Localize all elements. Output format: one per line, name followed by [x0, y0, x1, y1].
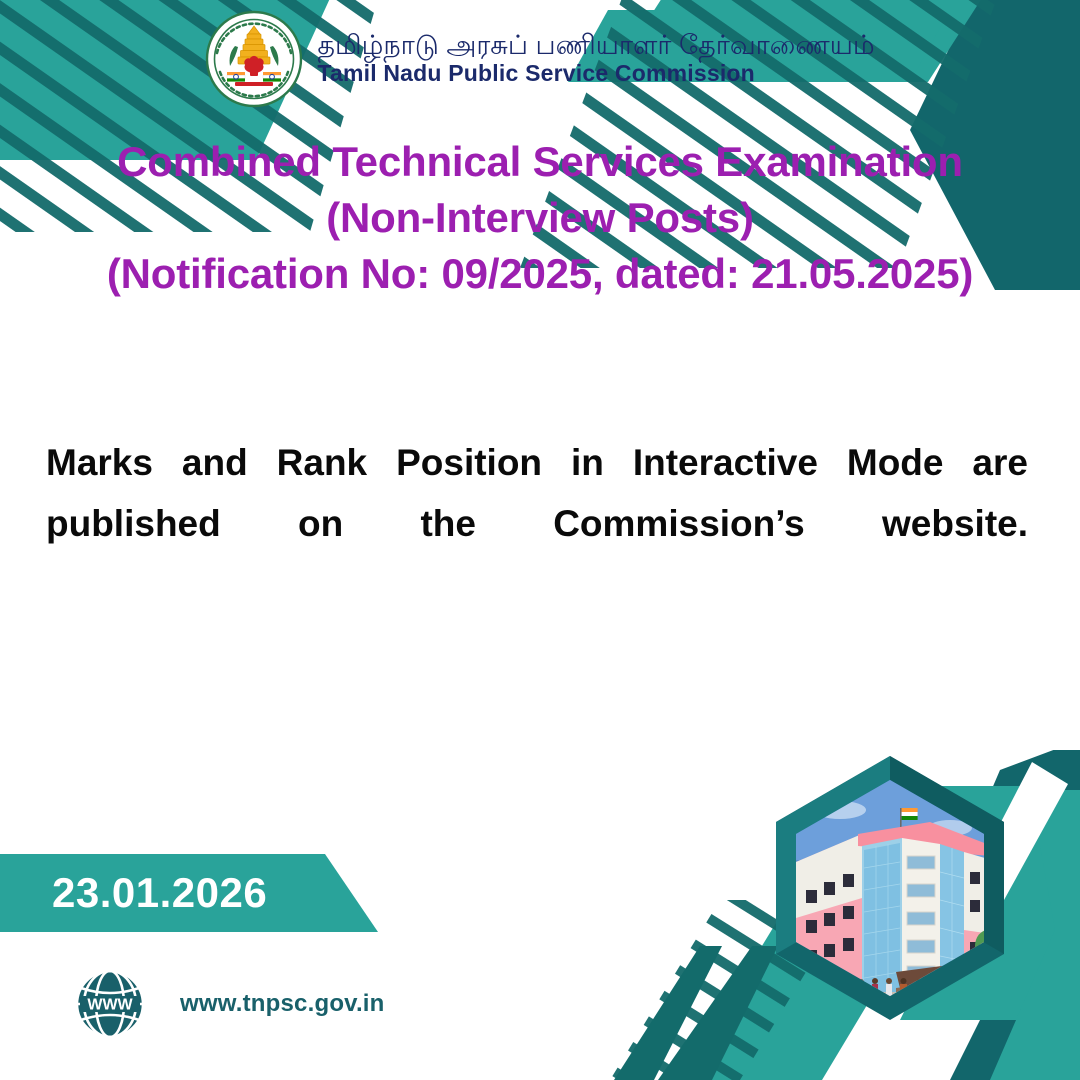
website-url[interactable]: www.tnpsc.gov.in	[180, 990, 385, 1018]
tnpsc-emblem-icon	[205, 10, 303, 108]
bottom-right-decoration	[600, 750, 1080, 1080]
commission-name-tamil: தமிழ்நாடு அரசுப் பணியாளர் தேர்வாணையம்	[317, 30, 874, 60]
date-ribbon: 23.01.2026	[0, 854, 378, 932]
exam-title-line-2: (Non-Interview Posts)	[40, 190, 1040, 246]
commission-name-english: Tamil Nadu Public Service Commission	[317, 60, 874, 88]
exam-title-line-3: (Notification No: 09/2025, dated: 21.05.…	[40, 246, 1040, 302]
globe-www-label: WWW	[87, 996, 133, 1013]
publish-date: 23.01.2026	[52, 869, 267, 917]
exam-title-line-1: Combined Technical Services Examination	[40, 134, 1040, 190]
exam-title: Combined Technical Services Examination …	[40, 134, 1040, 302]
globe-www-icon: WWW	[72, 966, 148, 1042]
footer: WWW www.tnpsc.gov.in	[72, 966, 385, 1042]
poster-canvas: தமிழ்நாடு அரசுப் பணியாளர் தேர்வாணையம் Ta…	[0, 0, 1080, 1080]
announcement-text: Marks and Rank Position in Interactive M…	[46, 432, 1028, 615]
commission-header: தமிழ்நாடு அரசுப் பணியாளர் தேர்வாணையம் Ta…	[0, 6, 1080, 112]
people-group	[844, 977, 937, 1002]
building-photo	[790, 770, 1001, 1012]
